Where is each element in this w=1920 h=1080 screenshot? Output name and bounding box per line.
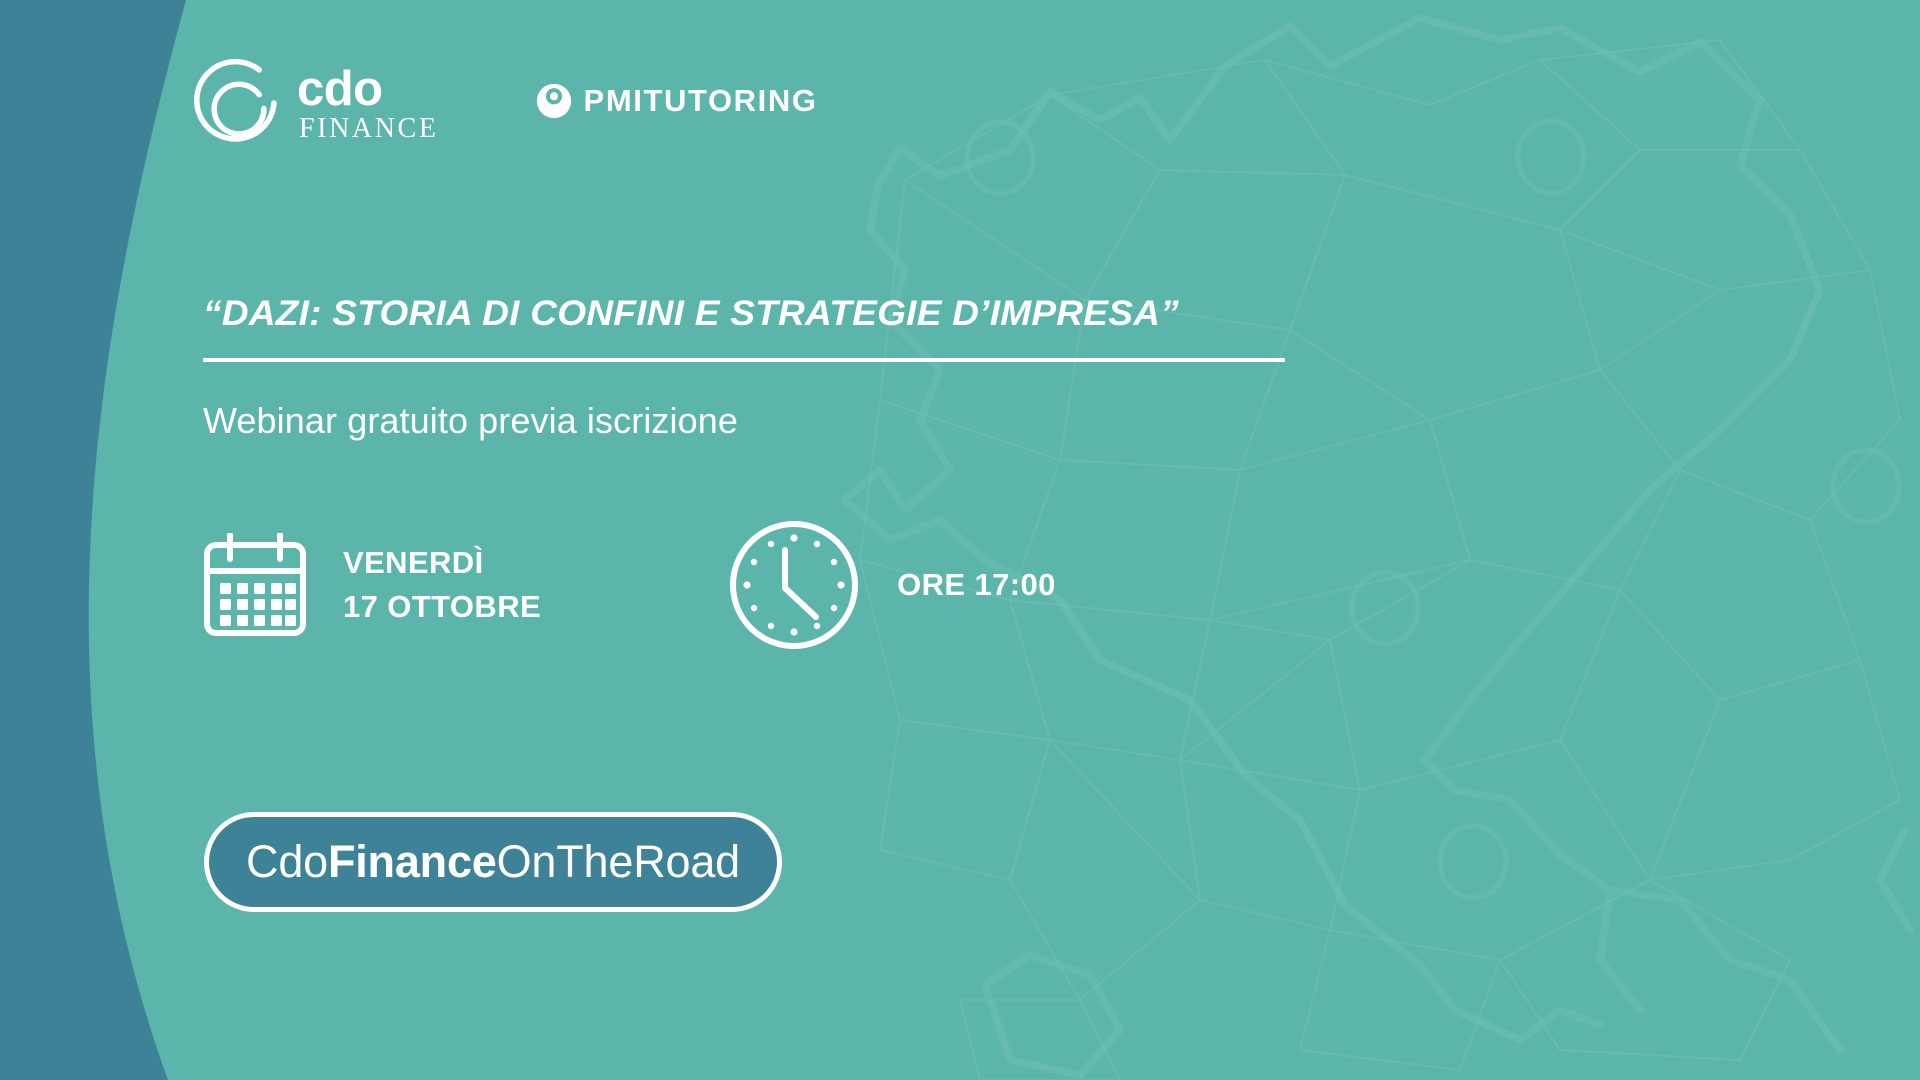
webinar-poster: cdo FINANCE PMITUTORING “DAZI: STORIA DI… bbox=[0, 0, 1920, 1080]
page-title: “DAZI: STORIA DI CONFINI E STRATEGIE D’I… bbox=[203, 294, 1179, 334]
cta-prefix: Cdo bbox=[246, 836, 328, 887]
clock-icon bbox=[727, 518, 861, 652]
event-time-block: ORE 17:00 bbox=[727, 518, 1056, 652]
page-subtitle: Webinar gratuito previa iscrizione bbox=[203, 400, 738, 442]
title-divider bbox=[203, 358, 1285, 362]
event-date-block: VENERDÌ 17 OTTOBRE bbox=[203, 533, 541, 637]
event-day-label: VENERDÌ bbox=[343, 541, 541, 585]
pmitutoring-wordmark: PMITUTORING bbox=[584, 83, 818, 119]
calendar-icon bbox=[203, 533, 307, 637]
event-time-label: ORE 17:00 bbox=[897, 567, 1056, 603]
cdo-logo-subword: FINANCE bbox=[299, 115, 439, 143]
cdo-logo-word: cdo bbox=[297, 67, 439, 112]
cdo-logo-wordmark: cdo FINANCE bbox=[297, 67, 439, 142]
pmitutoring-logo: PMITUTORING bbox=[535, 82, 818, 120]
event-date-label: 17 OTTOBRE bbox=[343, 585, 541, 629]
cdofinance-ontheroad-button[interactable]: CdoFinanceOnTheRoad bbox=[204, 812, 782, 912]
pmitutoring-eye-icon bbox=[535, 82, 573, 120]
cdo-finance-logo: cdo FINANCE bbox=[193, 51, 439, 155]
cdofinance-ontheroad-label: CdoFinanceOnTheRoad bbox=[246, 836, 740, 888]
cdo-spiral-icon bbox=[193, 57, 285, 149]
event-info-row: VENERDÌ 17 OTTOBRE bbox=[203, 510, 1056, 660]
logo-row: cdo FINANCE PMITUTORING bbox=[193, 48, 818, 158]
event-date-text: VENERDÌ 17 OTTOBRE bbox=[343, 541, 541, 629]
cta-emphasis: Finance bbox=[328, 836, 497, 887]
cta-suffix: OnTheRoad bbox=[497, 836, 740, 887]
